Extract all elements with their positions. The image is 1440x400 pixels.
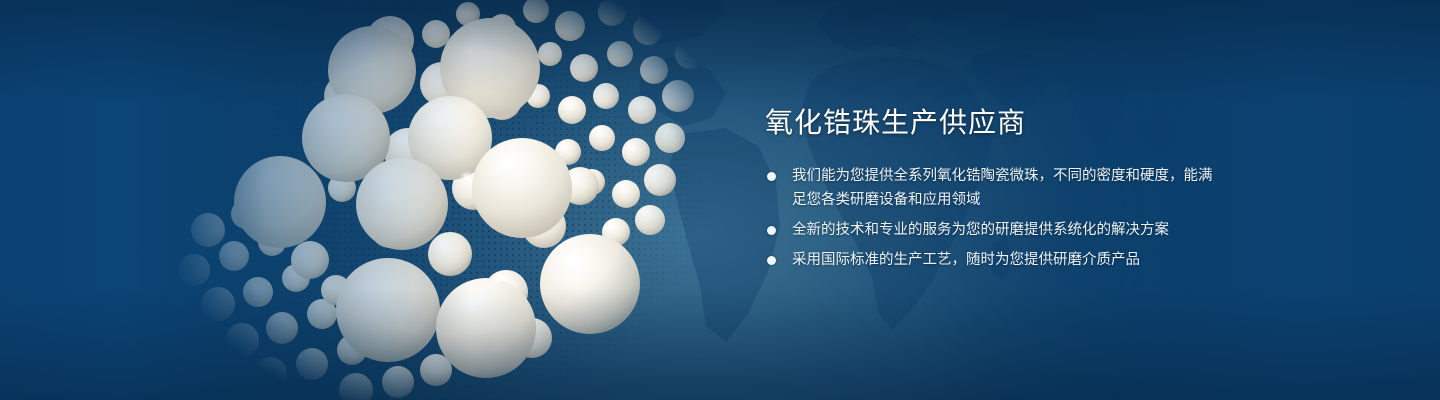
list-item-text: 全新的技术和专业的服务为您的研磨提供系统化的解决方案 xyxy=(792,218,1225,242)
list-item: 全新的技术和专业的服务为您的研磨提供系统化的解决方案 xyxy=(765,218,1225,242)
list-item-text: 采用国际标准的生产工艺，随时为您提供研磨介质产品 xyxy=(792,248,1225,272)
hero-banner: 氧化锆珠生产供应商 我们能为您提供全系列氧化锆陶瓷微珠，不同的密度和硬度，能满足… xyxy=(0,0,1440,400)
list-item-text: 我们能为您提供全系列氧化锆陶瓷微珠，不同的密度和硬度，能满足您各类研磨设备和应用… xyxy=(792,164,1225,212)
bullet-dot-icon xyxy=(767,256,776,265)
banner-copy: 氧化锆珠生产供应商 我们能为您提供全系列氧化锆陶瓷微珠，不同的密度和硬度，能满足… xyxy=(765,104,1225,272)
bullet-dot-icon xyxy=(767,172,776,181)
banner-headline: 氧化锆珠生产供应商 xyxy=(765,104,1225,142)
benefit-list: 我们能为您提供全系列氧化锆陶瓷微珠，不同的密度和硬度，能满足您各类研磨设备和应用… xyxy=(765,164,1225,272)
list-item: 采用国际标准的生产工艺，随时为您提供研磨介质产品 xyxy=(765,248,1225,272)
list-item: 我们能为您提供全系列氧化锆陶瓷微珠，不同的密度和硬度，能满足您各类研磨设备和应用… xyxy=(765,164,1225,212)
bullet-dot-icon xyxy=(767,226,776,235)
